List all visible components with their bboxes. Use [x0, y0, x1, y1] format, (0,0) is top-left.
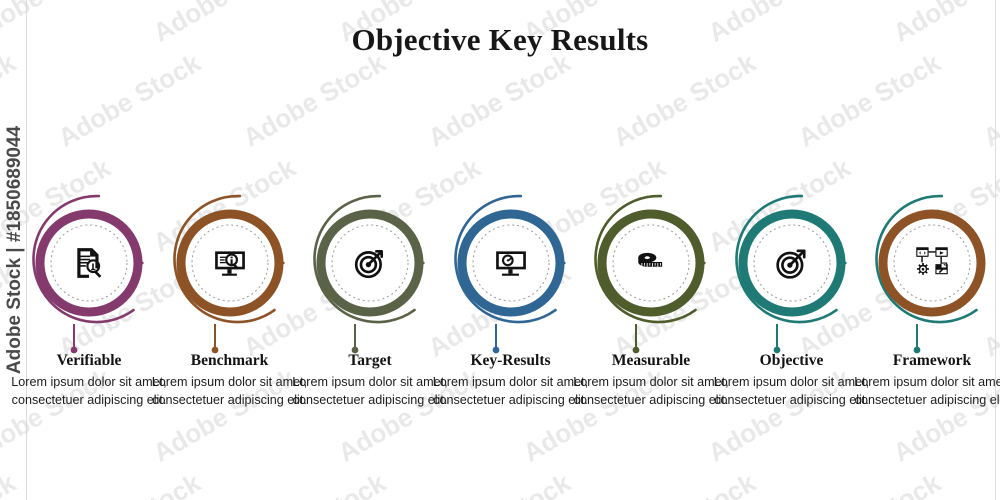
step-graphic-measurable — [576, 188, 726, 358]
step-ring-target — [321, 214, 419, 312]
step-graphic-verifiable — [14, 188, 164, 358]
step-ring-measurable — [602, 214, 700, 312]
step-node-benchmark[interactable] — [155, 188, 305, 358]
step-node-target[interactable] — [295, 188, 445, 358]
step-title-target: Target — [290, 352, 450, 370]
watermark-tile: Adobe Stock — [978, 47, 1000, 153]
step-node-verifiable[interactable] — [14, 188, 164, 358]
step-label-measurable: Measurable Lorem ipsum dolor sit amet, c… — [571, 352, 731, 410]
watermark-tile: Adobe Stock — [423, 47, 576, 153]
step-ring-framework — [883, 214, 981, 312]
watermark-tile: Adobe Stock — [53, 47, 206, 153]
step-graphic-key-results — [436, 188, 586, 358]
step-label-target: Target Lorem ipsum dolor sit amet, conse… — [290, 352, 450, 410]
step-description-objective: Lorem ipsum dolor sit amet, consectetuer… — [712, 374, 872, 410]
step-graphic-framework — [857, 188, 1000, 358]
step-label-benchmark: Benchmark Lorem ipsum dolor sit amet, co… — [150, 352, 310, 410]
step-graphic-benchmark — [155, 188, 305, 358]
watermark-tile: Adobe Stock — [608, 467, 761, 500]
watermark-tile: Adobe Stock — [238, 47, 391, 153]
step-description-framework: Lorem ipsum dolor sit amet, consectetuer… — [852, 374, 1000, 410]
watermark-tile: Adobe Stock — [978, 467, 1000, 500]
step-label-framework: Framework Lorem ipsum dolor sit amet, co… — [852, 352, 1000, 410]
watermark-tile: Adobe Stock — [238, 467, 391, 500]
step-label-verifiable: Verifiable Lorem ipsum dolor sit amet, c… — [9, 352, 169, 410]
step-ring-key-results — [462, 214, 560, 312]
step-node-objective[interactable] — [717, 188, 867, 358]
watermark-tile: Adobe Stock — [53, 467, 206, 500]
step-node-key-results[interactable] — [436, 188, 586, 358]
step-description-key-results: Lorem ipsum dolor sit amet, consectetuer… — [431, 374, 591, 410]
step-graphic-objective — [717, 188, 867, 358]
step-node-framework[interactable] — [857, 188, 1000, 358]
page-title: Objective Key Results — [0, 22, 1000, 58]
step-description-verifiable: Lorem ipsum dolor sit amet, consectetuer… — [9, 374, 169, 410]
watermark-tile: Adobe Stock — [0, 47, 21, 153]
infographic-canvas: Adobe StockAdobe StockAdobe StockAdobe S… — [0, 0, 1000, 500]
step-title-key-results: Key-Results — [431, 352, 591, 370]
watermark-tile: Adobe Stock — [793, 47, 946, 153]
step-label-key-results: Key-Results Lorem ipsum dolor sit amet, … — [431, 352, 591, 410]
step-ring-objective — [743, 214, 841, 312]
step-node-measurable[interactable] — [576, 188, 726, 358]
step-title-benchmark: Benchmark — [150, 352, 310, 370]
step-title-verifiable: Verifiable — [9, 352, 169, 370]
watermark-tile: Adobe Stock — [423, 467, 576, 500]
watermark-tile: Adobe Stock — [793, 467, 946, 500]
step-description-benchmark: Lorem ipsum dolor sit amet, consectetuer… — [150, 374, 310, 410]
watermark-tile: Adobe Stock — [0, 467, 21, 500]
step-title-measurable: Measurable — [571, 352, 731, 370]
step-description-measurable: Lorem ipsum dolor sit amet, consectetuer… — [571, 374, 731, 410]
step-ring-benchmark — [181, 214, 279, 312]
step-title-framework: Framework — [852, 352, 1000, 370]
step-description-target: Lorem ipsum dolor sit amet, consectetuer… — [290, 374, 450, 410]
watermark-tile: Adobe Stock — [608, 47, 761, 153]
step-graphic-target — [295, 188, 445, 358]
step-label-objective: Objective Lorem ipsum dolor sit amet, co… — [712, 352, 872, 410]
step-ring-verifiable — [40, 214, 138, 312]
step-title-objective: Objective — [712, 352, 872, 370]
